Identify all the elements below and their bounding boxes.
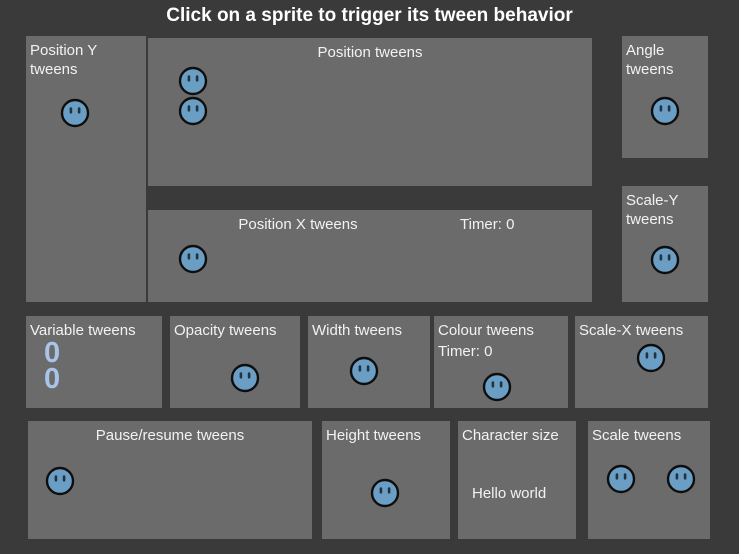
smiley-sprite[interactable] <box>370 478 400 508</box>
smiley-sprite[interactable] <box>636 343 666 373</box>
panel-title-pause-resume-tweens: Pause/resume tweens <box>28 426 312 445</box>
smiley-sprite[interactable] <box>45 466 75 496</box>
panel-opacity-tweens[interactable]: Opacity tweens <box>170 316 300 408</box>
page-title: Click on a sprite to trigger its tween b… <box>0 5 739 27</box>
panel-variable-tweens[interactable]: Variable tweens00 <box>26 316 162 408</box>
panel-subtext-position-x-tweens-0: Timer: 0 <box>460 215 514 234</box>
panel-scale-y-tweens[interactable]: Scale-Y tweens <box>622 186 708 302</box>
panel-character-size[interactable]: Character sizeHello world <box>458 421 576 539</box>
smiley-sprite[interactable] <box>650 245 680 275</box>
panel-title-character-size: Character size <box>458 426 576 445</box>
smiley-sprite[interactable] <box>230 363 260 393</box>
panel-position-y-tweens[interactable]: Position Y tweens <box>26 36 146 302</box>
smiley-sprite[interactable] <box>349 356 379 386</box>
smiley-sprite[interactable] <box>650 96 680 126</box>
panel-title-position-y-tweens: Position Y tweens <box>26 41 146 79</box>
panel-position-x-tweens[interactable]: Position X tweensTimer: 0 <box>148 210 592 302</box>
smiley-sprite[interactable] <box>178 66 208 96</box>
smiley-sprite[interactable] <box>482 372 512 402</box>
panel-title-scale-tweens: Scale tweens <box>588 426 710 445</box>
panel-title-colour-tweens: Colour tweens <box>434 321 568 340</box>
panel-title-angle-tweens: Angle tweens <box>622 41 708 79</box>
panel-title-scale-y-tweens: Scale-Y tweens <box>622 191 708 229</box>
panel-title-position-tweens: Position tweens <box>148 43 592 62</box>
smiley-sprite[interactable] <box>178 244 208 274</box>
panel-title-scale-x-tweens: Scale-X tweens <box>575 321 708 340</box>
panel-title-opacity-tweens: Opacity tweens <box>170 321 300 340</box>
panel-subtext-character-size-0: Hello world <box>472 484 546 503</box>
tween-demo-stage: Click on a sprite to trigger its tween b… <box>0 0 739 554</box>
panel-subtext-colour-tweens-0: Timer: 0 <box>438 342 492 361</box>
smiley-sprite[interactable] <box>60 98 90 128</box>
smiley-sprite[interactable] <box>178 96 208 126</box>
smiley-sprite[interactable] <box>666 464 696 494</box>
panel-position-tweens[interactable]: Position tweens <box>148 38 592 186</box>
panel-title-width-tweens: Width tweens <box>308 321 430 340</box>
smiley-sprite[interactable] <box>606 464 636 494</box>
panel-title-height-tweens: Height tweens <box>322 426 450 445</box>
variable-value-variable-tweens-1: 0 <box>44 364 60 394</box>
